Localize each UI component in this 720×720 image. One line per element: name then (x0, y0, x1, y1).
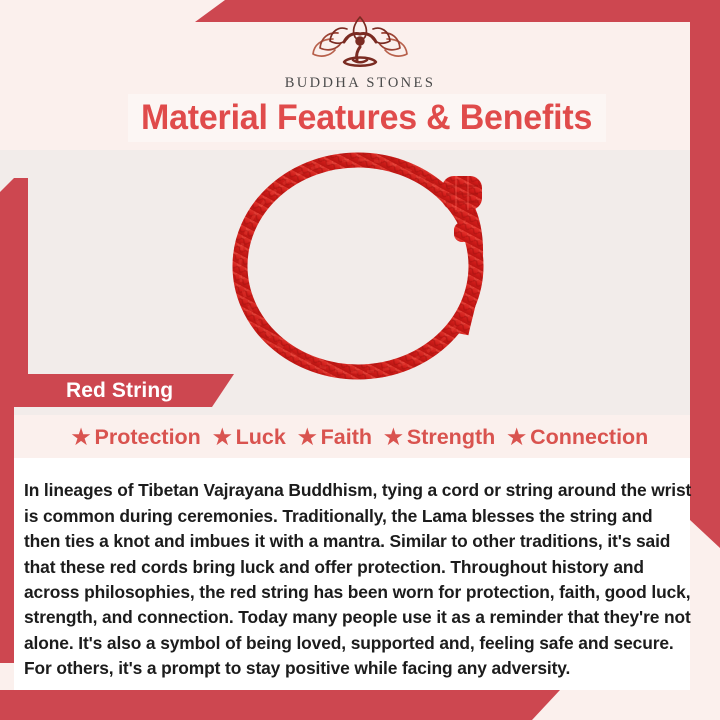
product-label: Red String (66, 379, 173, 403)
feature-label: Protection (95, 425, 201, 450)
star-icon: ★ (72, 427, 91, 448)
feature-item-luck: ★ Luck (213, 425, 286, 450)
feature-label: Faith (321, 425, 372, 450)
decor-bar-left-upper (0, 178, 28, 383)
star-icon: ★ (213, 427, 232, 448)
product-label-ribbon: Red String (14, 374, 234, 407)
feature-label: Strength (407, 425, 495, 450)
star-icon: ★ (507, 427, 526, 448)
feature-label: Connection (530, 425, 648, 450)
brand-name: BUDDHA STONES (285, 75, 436, 92)
star-icon: ★ (298, 427, 317, 448)
title-banner: Material Features & Benefits (128, 94, 606, 142)
poster-root: BUDDHA STONES Material Features & Benefi… (0, 0, 720, 720)
decor-bar-bottom (0, 690, 560, 720)
feature-item-connection: ★ Connection (507, 425, 648, 450)
product-image-red-string-bracelet (216, 150, 516, 382)
feature-item-protection: ★ Protection (72, 425, 201, 450)
feature-label: Luck (236, 425, 286, 450)
feature-list: ★ Protection ★ Luck ★ Faith ★ Strength ★… (0, 418, 720, 456)
feature-item-faith: ★ Faith (298, 425, 372, 450)
brand-logo: BUDDHA STONES (0, 12, 720, 92)
description-text: In lineages of Tibetan Vajrayana Buddhis… (24, 478, 692, 681)
page-title: Material Features & Benefits (141, 98, 592, 138)
star-icon: ★ (384, 427, 403, 448)
lotus-meditation-icon (301, 12, 419, 74)
feature-item-strength: ★ Strength (384, 425, 495, 450)
